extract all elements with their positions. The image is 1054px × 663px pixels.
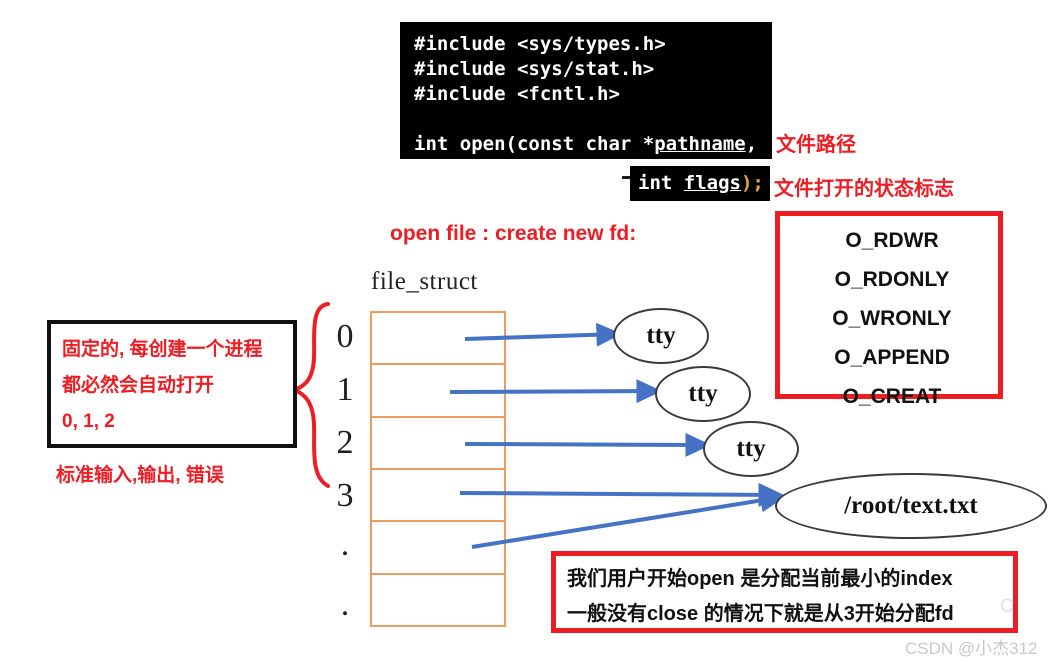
code-block-flags-param: int flags);: [630, 166, 770, 201]
fd-table-row: [372, 313, 504, 365]
fd-note-line-2: 一般没有close 的情况下就是从3开始分配fd: [567, 597, 1013, 632]
annotation-flags: 文件打开的状态标志: [774, 172, 954, 201]
fd-index-0: 0: [330, 318, 360, 356]
node-tty-0: tty: [613, 308, 709, 364]
std-fd-caption: 标准输入,输出, 错误: [56, 460, 224, 487]
node-file-path: /root/text.txt: [775, 473, 1047, 539]
code-line-include-stat: #include <sys/stat.h>: [414, 58, 654, 80]
code-flags-suffix: );: [741, 172, 764, 194]
fd-table-row: [372, 365, 504, 417]
open-flags-box: O_RDWR O_RDONLY O_WRONLY O_APPEND O_CREA…: [775, 211, 1003, 399]
annotation-pathname: 文件路径: [776, 128, 856, 157]
code-line-include-fcntl: #include <fcntl.h>: [414, 83, 620, 105]
diagram-canvas: #include <sys/types.h> #include <sys/sta…: [0, 0, 1054, 663]
fd-index-3: 3: [330, 477, 360, 515]
std-fd-line-2: 都必然会自动打开: [62, 368, 293, 404]
std-fd-line-1: 固定的, 每创建一个进程: [62, 332, 293, 368]
flag-o-append: O_APPEND: [780, 338, 998, 377]
stray-glyph: C: [1000, 596, 1014, 618]
std-fd-line-3: 0, 1, 2: [62, 404, 293, 440]
node-tty-1: tty: [655, 366, 751, 422]
code-open-prefix: int open(const char *: [414, 133, 654, 155]
fd-allocation-note-box: 我们用户开始open 是分配当前最小的index 一般没有close 的情况下就…: [551, 551, 1018, 633]
fd-index-dot-1: .: [330, 540, 360, 550]
flag-o-rdwr: O_RDWR: [780, 221, 998, 260]
code-block-open-signature: #include <sys/types.h> #include <sys/sta…: [400, 22, 772, 159]
node-tty-2: tty: [703, 421, 799, 477]
code-param-flags: flags: [684, 172, 741, 194]
flag-o-creat: O_CREAT: [780, 377, 998, 416]
watermark: CSDN @小杰312: [905, 634, 1038, 659]
arrow-fd3-to-file: [460, 493, 780, 495]
code-param-pathname: pathname: [654, 133, 746, 155]
fd-table: [370, 311, 506, 627]
fd-index-2: 2: [330, 424, 360, 462]
code-flags-prefix: int: [638, 172, 684, 194]
fd-table-row: [372, 522, 504, 574]
fd-table-row: [372, 418, 504, 470]
code-line-include-types: #include <sys/types.h>: [414, 33, 666, 55]
code-line-open-decl: int open(const char *pathname,: [414, 133, 757, 155]
fd-table-row: [372, 575, 504, 625]
fd-note-line-1: 我们用户开始open 是分配当前最小的index: [567, 562, 1013, 597]
heading-open-file: open file : create new fd:: [390, 222, 636, 246]
code-open-suffix: ,: [746, 133, 757, 155]
fd-index-dot-2: .: [330, 600, 360, 610]
arrow-fdn-to-file: [472, 497, 782, 547]
flag-o-wronly: O_WRONLY: [780, 299, 998, 338]
fd-table-row: [372, 470, 504, 522]
file-struct-label: file_struct: [371, 268, 478, 296]
fd-index-1: 1: [330, 371, 360, 409]
std-fd-callout-box: 固定的, 每创建一个进程 都必然会自动打开 0, 1, 2: [47, 320, 297, 448]
flag-o-rdonly: O_RDONLY: [780, 260, 998, 299]
